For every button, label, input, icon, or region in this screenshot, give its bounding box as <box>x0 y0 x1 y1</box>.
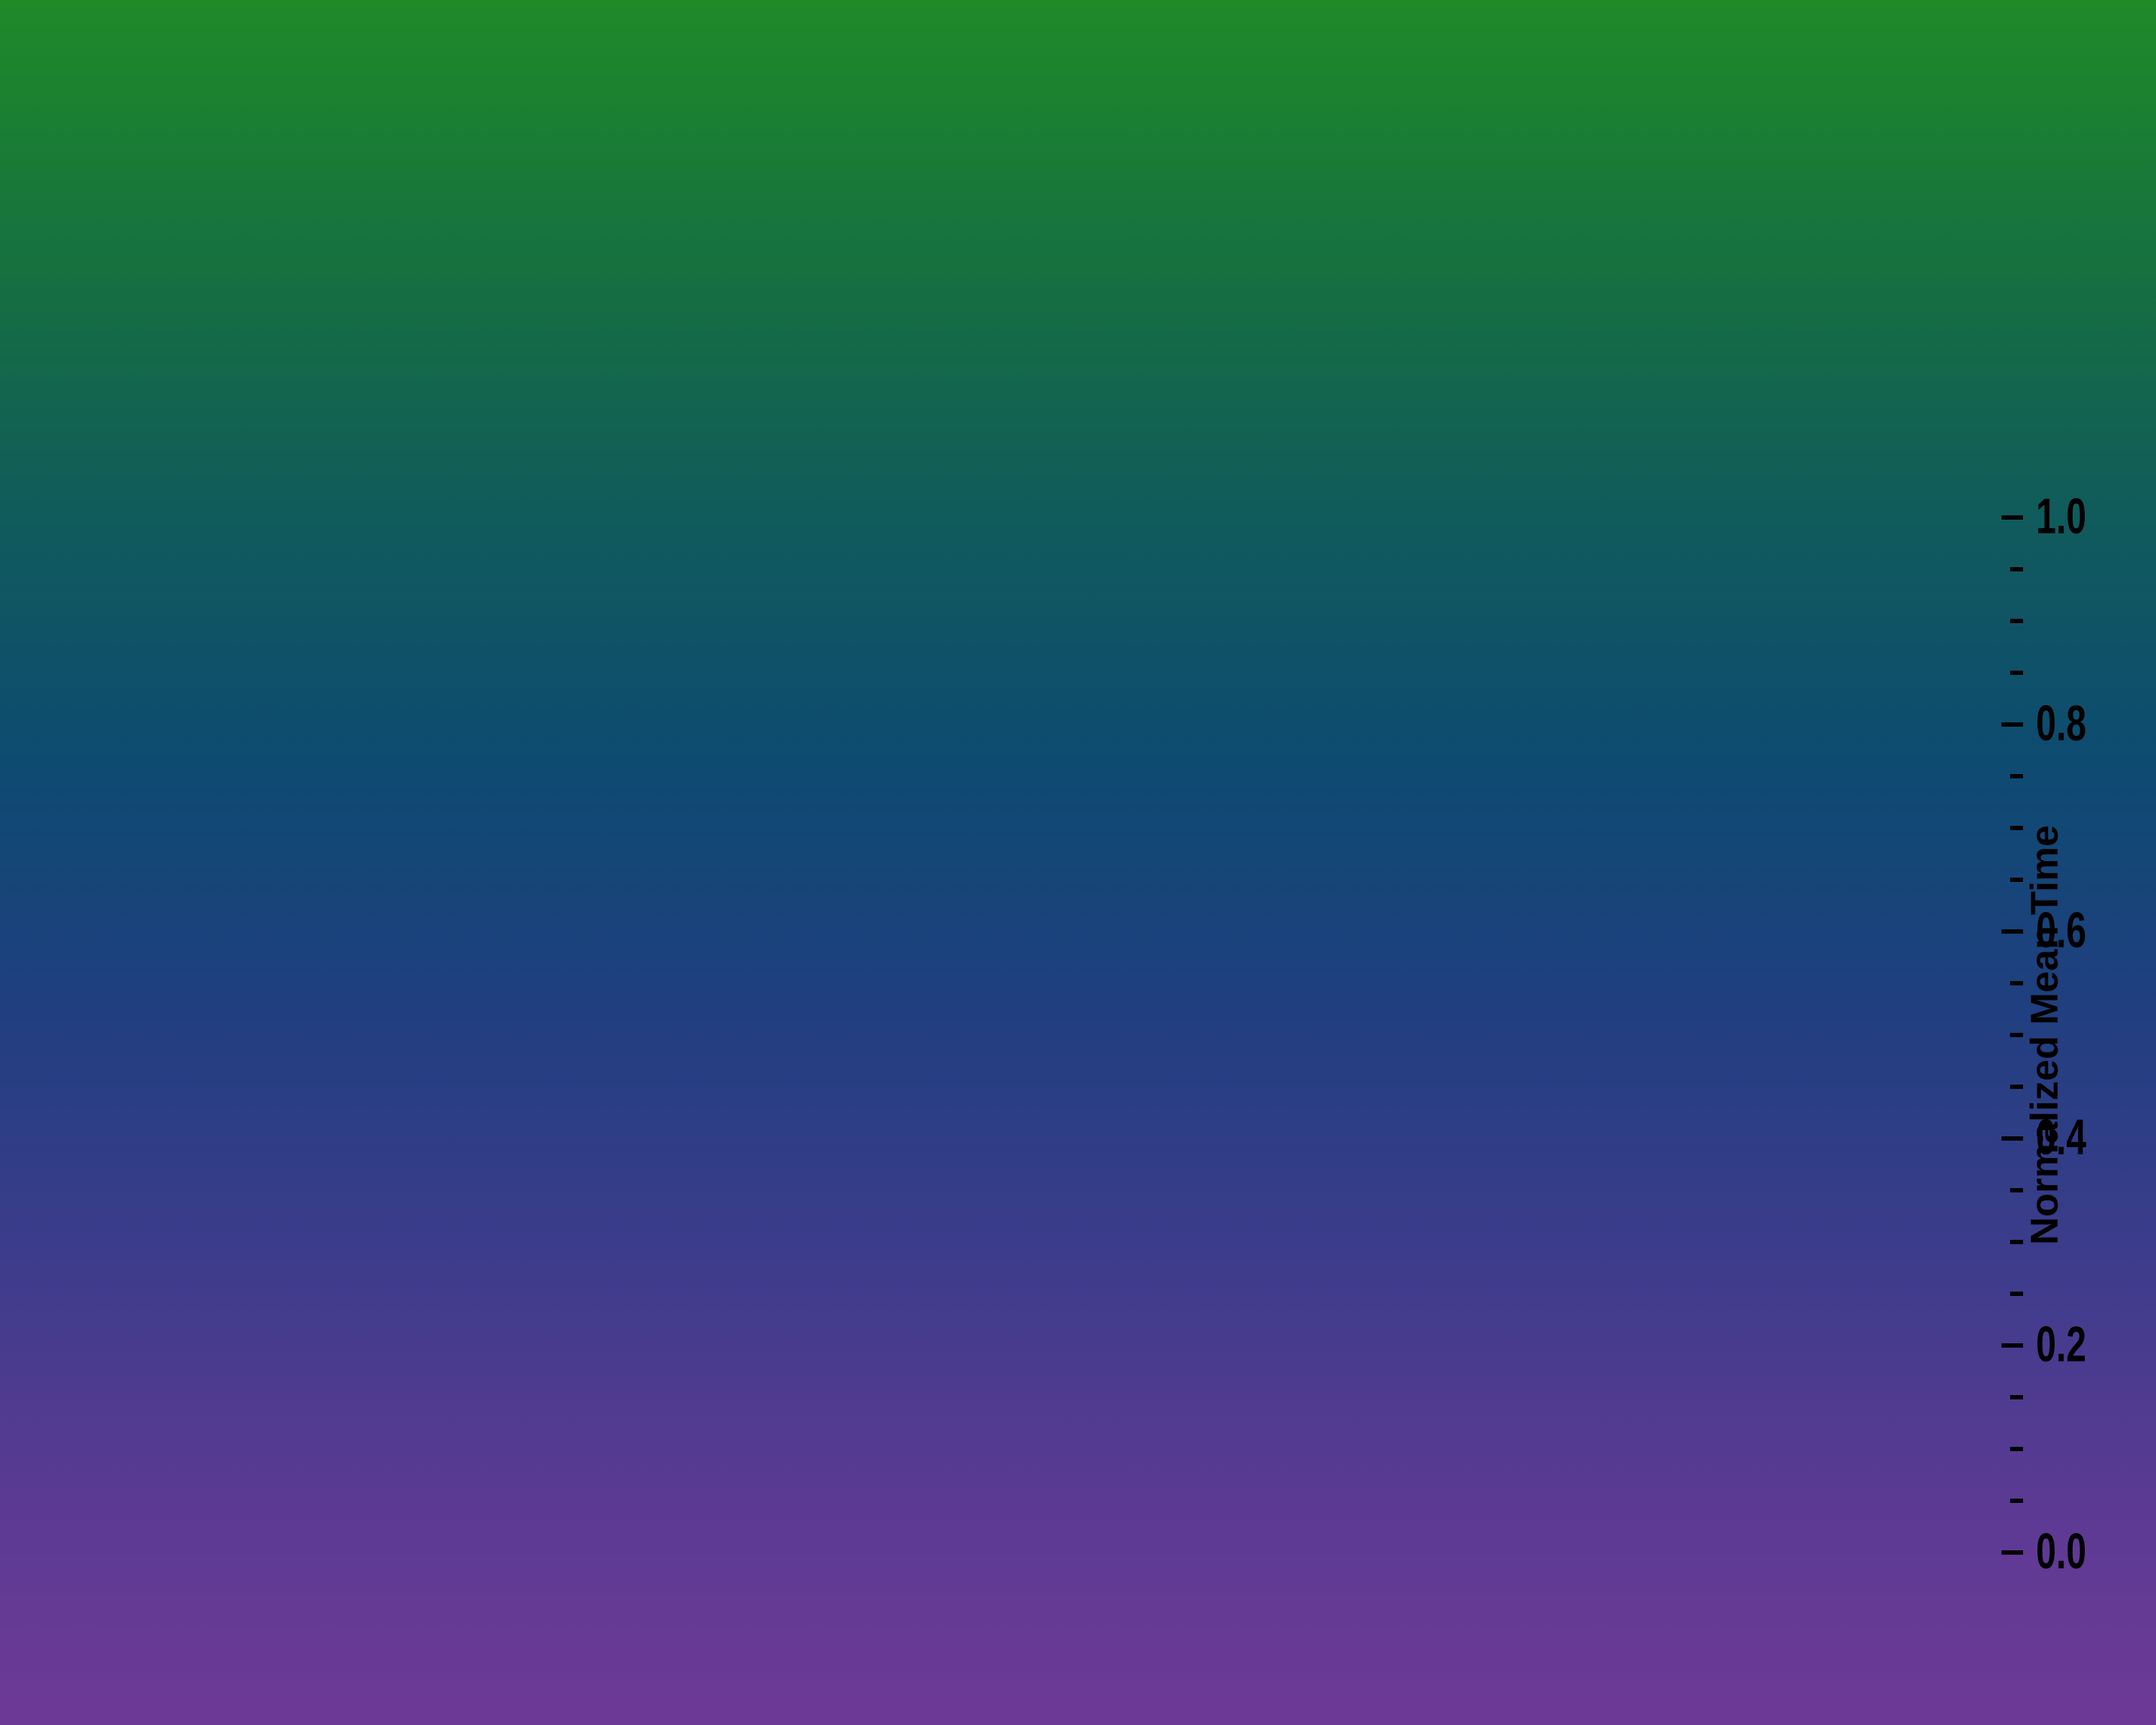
colorbar-tick-label-1: 0.2 <box>2036 1315 2156 1373</box>
colorbar-tick-label-0: 0.0 <box>2036 1522 2156 1580</box>
axis-tick <box>2010 1033 2023 1037</box>
axis-tick <box>2010 567 2023 571</box>
axis-tick <box>2010 1292 2023 1296</box>
axis-tick <box>2001 1136 2023 1141</box>
axis-tick <box>2010 1240 2023 1244</box>
colorbar-label: Normalized Mean Time <box>2022 825 2067 1245</box>
axis-tick <box>2010 981 2023 985</box>
axis-tick <box>2010 826 2023 830</box>
axis-tick <box>2001 515 2023 520</box>
axis-tick <box>2010 619 2023 623</box>
axis-tick <box>2001 1550 2023 1555</box>
axis-tick <box>2010 671 2023 675</box>
colorbar-tick-label-5: 1.0 <box>2036 487 2156 545</box>
axis-tick <box>2010 878 2023 882</box>
axis-tick <box>2010 1499 2023 1503</box>
axis-tick <box>2010 1188 2023 1192</box>
colorbar-gradient <box>0 0 2156 1725</box>
axis-tick <box>2010 1447 2023 1451</box>
axis-tick <box>2001 929 2023 934</box>
colorbar <box>0 0 115 1035</box>
colorbar-tick-label-4: 0.8 <box>2036 694 2156 752</box>
axis-tick <box>2010 1395 2023 1399</box>
axis-tick <box>2010 1085 2023 1089</box>
figure-root: 0 250 # Counts PepDF Time window: 200 ns… <box>0 0 2156 1725</box>
axis-tick <box>2010 774 2023 778</box>
axis-tick <box>2001 722 2023 727</box>
axis-tick <box>2001 1343 2023 1348</box>
